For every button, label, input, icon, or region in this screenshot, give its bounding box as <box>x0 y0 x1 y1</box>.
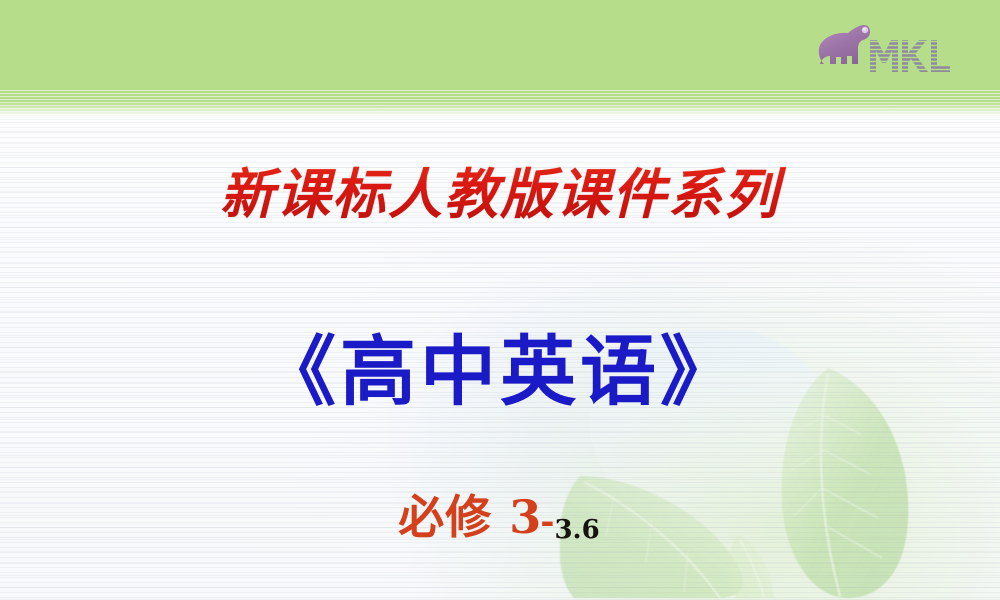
volume-label: 必修 3 <box>398 490 542 544</box>
book-title: 《高中英语》 <box>0 310 1000 420</box>
volume-unit: 3.6 <box>554 515 599 545</box>
volume-line: 必修 3-3.6 <box>0 494 1000 540</box>
presentation-slide: 新课标人教版课件系列 《高中英语》 必修 3-3.6 <box>0 0 1000 600</box>
series-title: 新课标人教版课件系列 <box>0 150 1000 229</box>
volume-dash: - <box>540 502 554 542</box>
mkl-wordmark <box>866 36 952 76</box>
brand-logo <box>812 14 952 76</box>
dinosaur-logo-icon <box>819 25 870 64</box>
